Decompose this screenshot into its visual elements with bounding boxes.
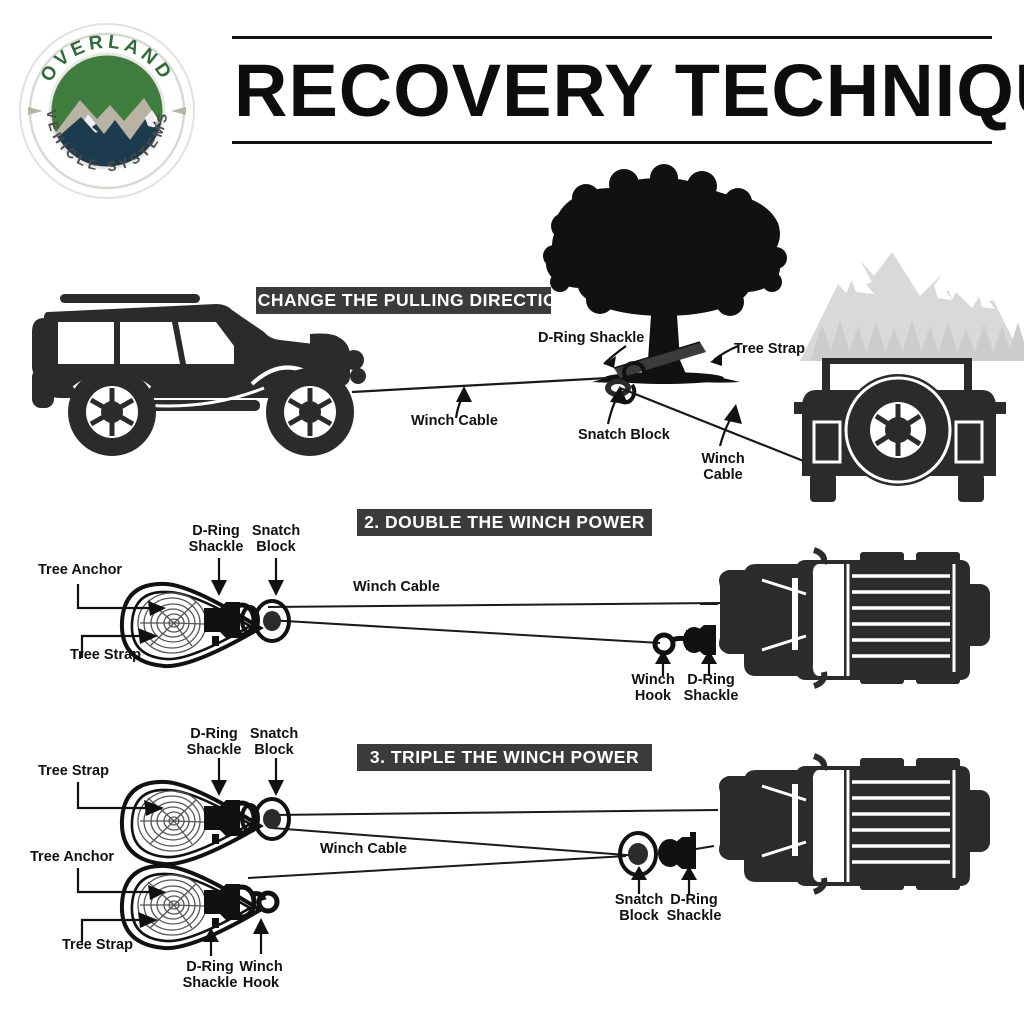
label-tree-strap-section-3: Tree Strap	[38, 764, 109, 780]
leader-d-ring-shackle-section-2	[206, 556, 232, 598]
label-d-ring-shackle-section-2: D-Ring Shackle	[180, 524, 252, 555]
vehicle-top-view-section-2	[710, 550, 998, 690]
label-tree-strap-section-2: Tree Strap	[70, 648, 141, 664]
leader-tree-anchor-section-2	[72, 582, 182, 620]
label-snatch-block-section-1: Snatch Block	[578, 428, 670, 444]
leader-snatch-block-section-1	[594, 386, 636, 426]
label-d-ring-shackle-3-section-3: D-Ring Shackle	[658, 893, 730, 924]
d-ring-shackle-and-snatch-block-section-3	[198, 790, 290, 852]
leader-tree-strap-section-3	[72, 780, 182, 820]
leader-winch-cable-2-section-1	[708, 404, 750, 448]
leader-d-ring-shackle-section-3	[206, 756, 232, 798]
overland-vehicle-systems-logo: OVERLAND VEHICLE SYSTEMS	[18, 22, 196, 200]
leader-tree-anchor-section-3	[72, 866, 182, 904]
leader-d-ring-shackle-2-section-3	[198, 928, 224, 958]
page-title-block: RECOVERY TECHNIQUES	[232, 36, 992, 144]
label-d-ring-shackle-2-section-2: D-Ring Shackle	[676, 673, 746, 704]
label-winch-cable-section-1: Winch Cable	[411, 414, 498, 430]
vehicle-top-view-section-3	[710, 756, 998, 896]
label-tree-anchor-section-3: Tree Anchor	[30, 850, 114, 866]
vehicle-rear-view	[786, 352, 1014, 514]
section-2-title-bar: 2. DOUBLE THE WINCH POWER	[357, 509, 652, 536]
title-rule-top	[232, 36, 992, 39]
label-snatch-block-section-2: Snatch Block	[245, 524, 307, 555]
vehicle-side-view	[14, 272, 374, 462]
label-winch-cable-section-2: Winch Cable	[353, 580, 440, 596]
title-rule-bottom	[232, 141, 992, 144]
label-snatch-block-section-3: Snatch Block	[243, 727, 305, 758]
d-ring-shackle-and-snatch-block-section-2	[198, 592, 290, 654]
label-winch-cable-2-section-1: Winch Cable	[688, 452, 758, 483]
label-tree-strap-2-section-3: Tree Strap	[62, 938, 133, 954]
page-title: RECOVERY TECHNIQUES	[234, 42, 992, 140]
label-winch-cable-section-3: Winch Cable	[320, 842, 407, 858]
infographic-canvas: OVERLAND VEHICLE SYSTEMS RECOVERY TECHNI…	[0, 0, 1024, 1024]
label-d-ring-shackle-section-3: D-Ring Shackle	[178, 727, 250, 758]
leader-snatch-block-section-2	[263, 556, 289, 598]
leader-snatch-block-section-3	[263, 756, 289, 798]
label-winch-hook-section-3: Winch Hook	[230, 960, 292, 991]
label-tree-strap-section-1: Tree Strap	[734, 342, 805, 358]
label-d-ring-shackle-section-1: D-Ring Shackle	[538, 331, 644, 347]
leader-winch-hook-section-3	[248, 918, 274, 956]
header: OVERLAND VEHICLE SYSTEMS RECOVERY TECHNI…	[0, 0, 1024, 180]
label-tree-anchor-section-2: Tree Anchor	[38, 563, 122, 579]
